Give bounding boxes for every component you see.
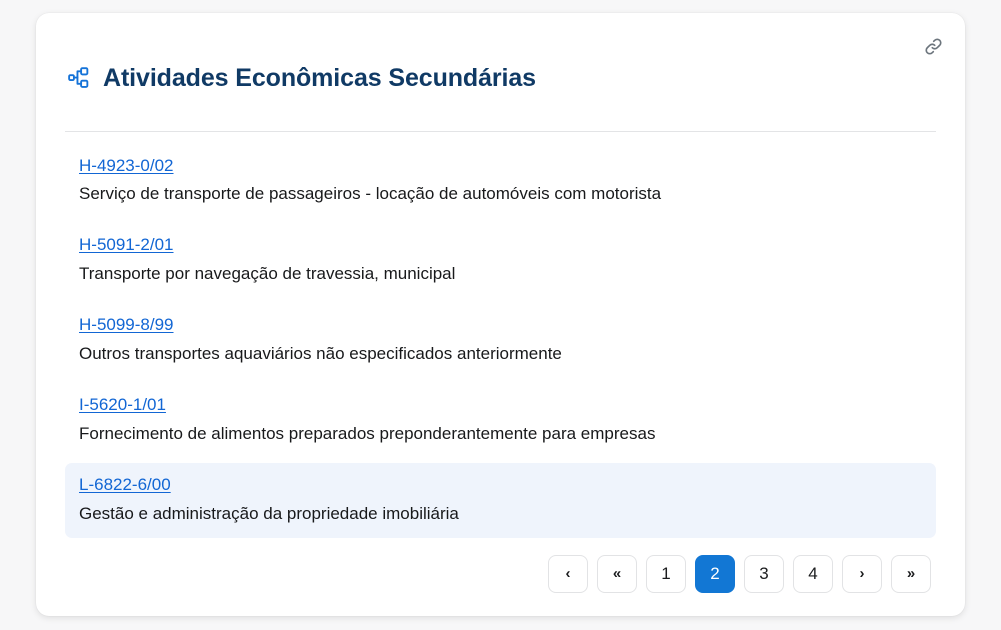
page-title: Atividades Econômicas Secundárias: [103, 63, 536, 93]
pagination-prev[interactable]: ‹: [548, 555, 588, 593]
list-item: I-5620-1/01 Fornecimento de alimentos pr…: [65, 383, 936, 458]
list-item: H-5099-8/99 Outros transportes aquaviári…: [65, 303, 936, 378]
activity-code-link[interactable]: H-5099-8/99: [79, 314, 174, 337]
activity-list: H-4923-0/02 Serviço de transporte de pas…: [65, 144, 936, 538]
list-item: H-4923-0/02 Serviço de transporte de pas…: [65, 144, 936, 219]
pagination-page-4[interactable]: 4: [793, 555, 833, 593]
activity-description: Fornecimento de alimentos preparados pre…: [79, 423, 922, 446]
activity-description: Outros transportes aquaviários não espec…: [79, 343, 922, 366]
secondary-activities-card: Atividades Econômicas Secundárias H-4923…: [36, 13, 965, 616]
pagination-page-1[interactable]: 1: [646, 555, 686, 593]
activity-description: Gestão e administração da propriedade im…: [79, 503, 922, 526]
pagination-page-3[interactable]: 3: [744, 555, 784, 593]
list-item: H-5091-2/01 Transporte por navegação de …: [65, 223, 936, 298]
activity-description: Serviço de transporte de passageiros - l…: [79, 183, 922, 206]
activity-code-link[interactable]: H-5091-2/01: [79, 234, 174, 257]
activity-code-link[interactable]: H-4923-0/02: [79, 155, 174, 178]
sitemap-icon: [65, 65, 91, 91]
activity-code-link[interactable]: I-5620-1/01: [79, 394, 166, 417]
page-root: Atividades Econômicas Secundárias H-4923…: [0, 0, 1001, 630]
pagination-first[interactable]: «: [597, 555, 637, 593]
pagination-page-2[interactable]: 2: [695, 555, 735, 593]
card-header: Atividades Econômicas Secundárias: [65, 13, 936, 110]
activity-code-link[interactable]: L-6822-6/00: [79, 474, 171, 497]
pagination-next[interactable]: ›: [842, 555, 882, 593]
pagination: ‹ « 1 2 3 4 › »: [65, 555, 936, 593]
activity-description: Transporte por navegação de travessia, m…: [79, 263, 922, 286]
pagination-last[interactable]: »: [891, 555, 931, 593]
list-item-highlighted: L-6822-6/00 Gestão e administração da pr…: [65, 463, 936, 538]
link-icon[interactable]: [920, 33, 946, 59]
header-divider: [65, 131, 936, 132]
